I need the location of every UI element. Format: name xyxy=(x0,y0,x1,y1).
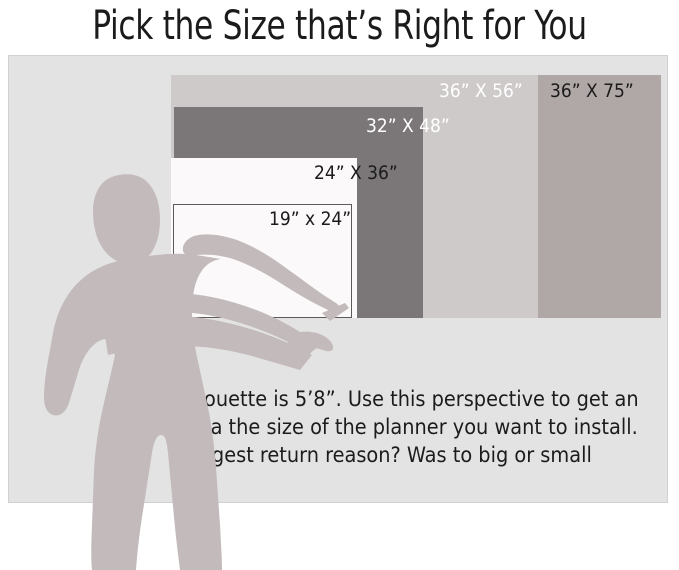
size-label-19x24: 19” x 24” xyxy=(269,210,351,229)
caption-line-3: Biggest return reason? Was to big or sma… xyxy=(181,443,592,468)
caption-line-2: idea the size of the planner you want to… xyxy=(181,415,638,440)
size-label-36x75: 36” X 75” xyxy=(550,82,634,101)
caption-text: Silouette is 5’8”. Use this perspective … xyxy=(181,386,671,470)
size-rect-36x75 xyxy=(538,75,661,318)
size-label-32x48: 32” X 48” xyxy=(366,117,450,136)
size-comparison-infographic: Pick the Size that’s Right for You 36” X… xyxy=(0,0,679,570)
illustration-panel: 36” X 75” 36” X 56” 32” X 48” 24” X 36” … xyxy=(8,55,668,503)
size-label-24x36: 24” X 36” xyxy=(314,164,398,183)
size-label-36x56: 36” X 56” xyxy=(439,82,523,101)
page-title: Pick the Size that’s Right for You xyxy=(44,0,635,52)
caption-line-1: Silouette is 5’8”. Use this perspective … xyxy=(181,387,639,412)
